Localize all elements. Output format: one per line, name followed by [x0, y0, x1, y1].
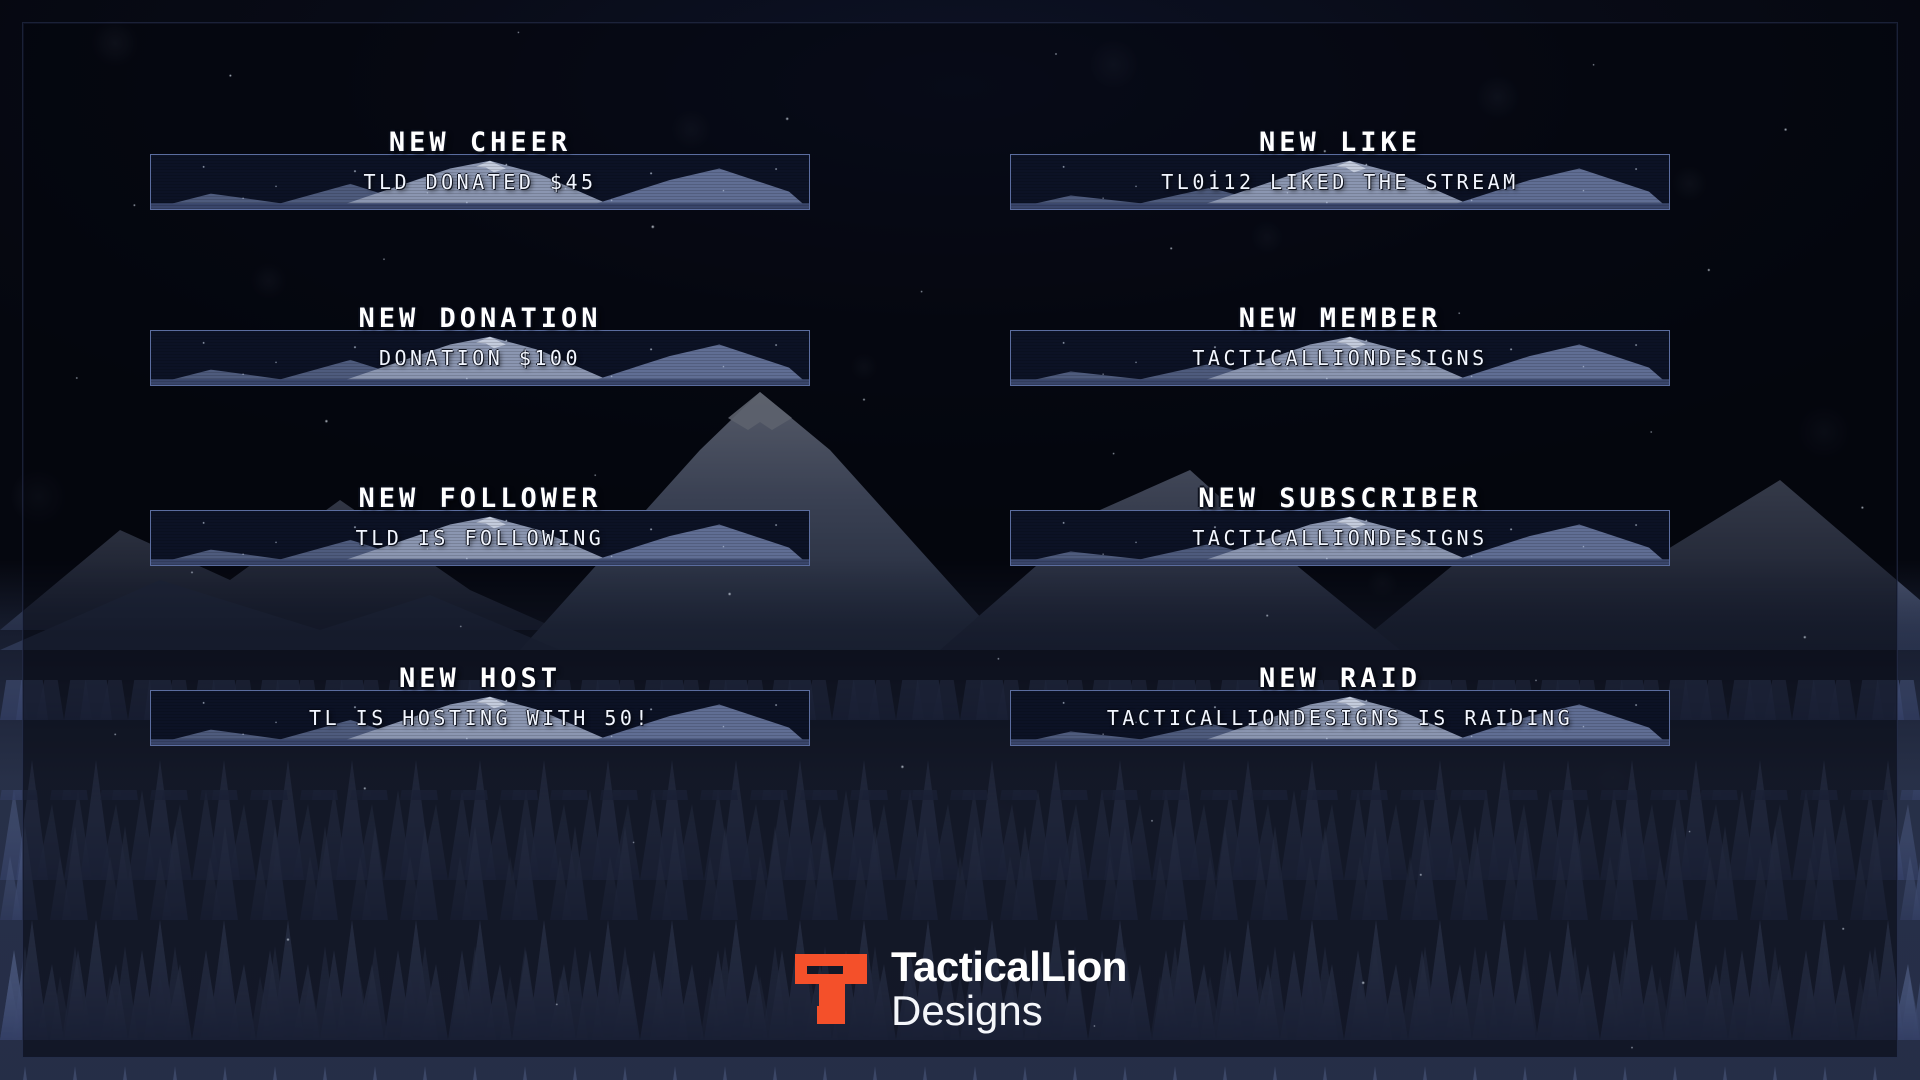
alert-cell-new-follower: NEW FOLLOWER TLD IS FOLLOWING	[150, 476, 810, 656]
alert-title: NEW MEMBER	[1010, 304, 1670, 334]
alert-subtitle: TACTICALLIONDESIGNS IS RAIDING	[1010, 704, 1670, 732]
alert-cell-new-member: NEW MEMBER TACTICALLIONDESIGNS	[1010, 296, 1670, 476]
alert-box-new-like[interactable]: NEW LIKE TL0112 LIKED THE STREAM	[1010, 154, 1670, 210]
alert-title: NEW FOLLOWER	[150, 484, 810, 514]
alert-title: NEW CHEER	[150, 128, 810, 158]
alert-title: NEW HOST	[150, 664, 810, 694]
alert-cell-new-subscriber: NEW SUBSCRIBER TACTICALLIONDESIGNS	[1010, 476, 1670, 656]
alert-cell-new-donation: NEW DONATION DONATION $100	[150, 296, 810, 476]
alert-subtitle: TACTICALLIONDESIGNS	[1010, 344, 1670, 372]
alert-title: NEW DONATION	[150, 304, 810, 334]
alert-subtitle: TLD DONATED $45	[150, 168, 810, 196]
alert-subtitle: TL0112 LIKED THE STREAM	[1010, 168, 1670, 196]
tacticallion-t-mark-icon	[793, 952, 869, 1026]
alerts-preview-canvas: NEW CHEER TLD DONATED $45	[0, 0, 1920, 1080]
logo-name-primary: TacticalLion	[891, 946, 1127, 988]
alert-box-new-member[interactable]: NEW MEMBER TACTICALLIONDESIGNS	[1010, 330, 1670, 386]
alert-box-new-raid[interactable]: NEW RAID TACTICALLIONDESIGNS IS RAIDING	[1010, 690, 1670, 746]
alert-title: NEW RAID	[1010, 664, 1670, 694]
alert-box-new-donation[interactable]: NEW DONATION DONATION $100	[150, 330, 810, 386]
brand-logo: TacticalLion Designs	[0, 946, 1920, 1032]
logo-name-secondary: Designs	[891, 990, 1127, 1032]
alert-cell-new-raid: NEW RAID TACTICALLIONDESIGNS IS RAIDING	[1010, 656, 1670, 836]
alert-box-new-subscriber[interactable]: NEW SUBSCRIBER TACTICALLIONDESIGNS	[1010, 510, 1670, 566]
alert-cell-new-like: NEW LIKE TL0112 LIKED THE STREAM	[1010, 120, 1670, 296]
alert-cell-new-host: NEW HOST TL IS HOSTING WITH 50!	[150, 656, 810, 836]
logo-wordmark: TacticalLion Designs	[891, 946, 1127, 1032]
alert-title: NEW SUBSCRIBER	[1010, 484, 1670, 514]
alert-box-new-cheer[interactable]: NEW CHEER TLD DONATED $45	[150, 154, 810, 210]
alert-cell-new-cheer: NEW CHEER TLD DONATED $45	[150, 120, 810, 296]
alert-subtitle: TACTICALLIONDESIGNS	[1010, 524, 1670, 552]
alert-title: NEW LIKE	[1010, 128, 1670, 158]
alert-grid: NEW CHEER TLD DONATED $45	[150, 120, 1770, 836]
alert-subtitle: TLD IS FOLLOWING	[150, 524, 810, 552]
alert-subtitle: TL IS HOSTING WITH 50!	[150, 704, 810, 732]
alert-subtitle: DONATION $100	[150, 344, 810, 372]
alert-box-new-follower[interactable]: NEW FOLLOWER TLD IS FOLLOWING	[150, 510, 810, 566]
alert-box-new-host[interactable]: NEW HOST TL IS HOSTING WITH 50!	[150, 690, 810, 746]
